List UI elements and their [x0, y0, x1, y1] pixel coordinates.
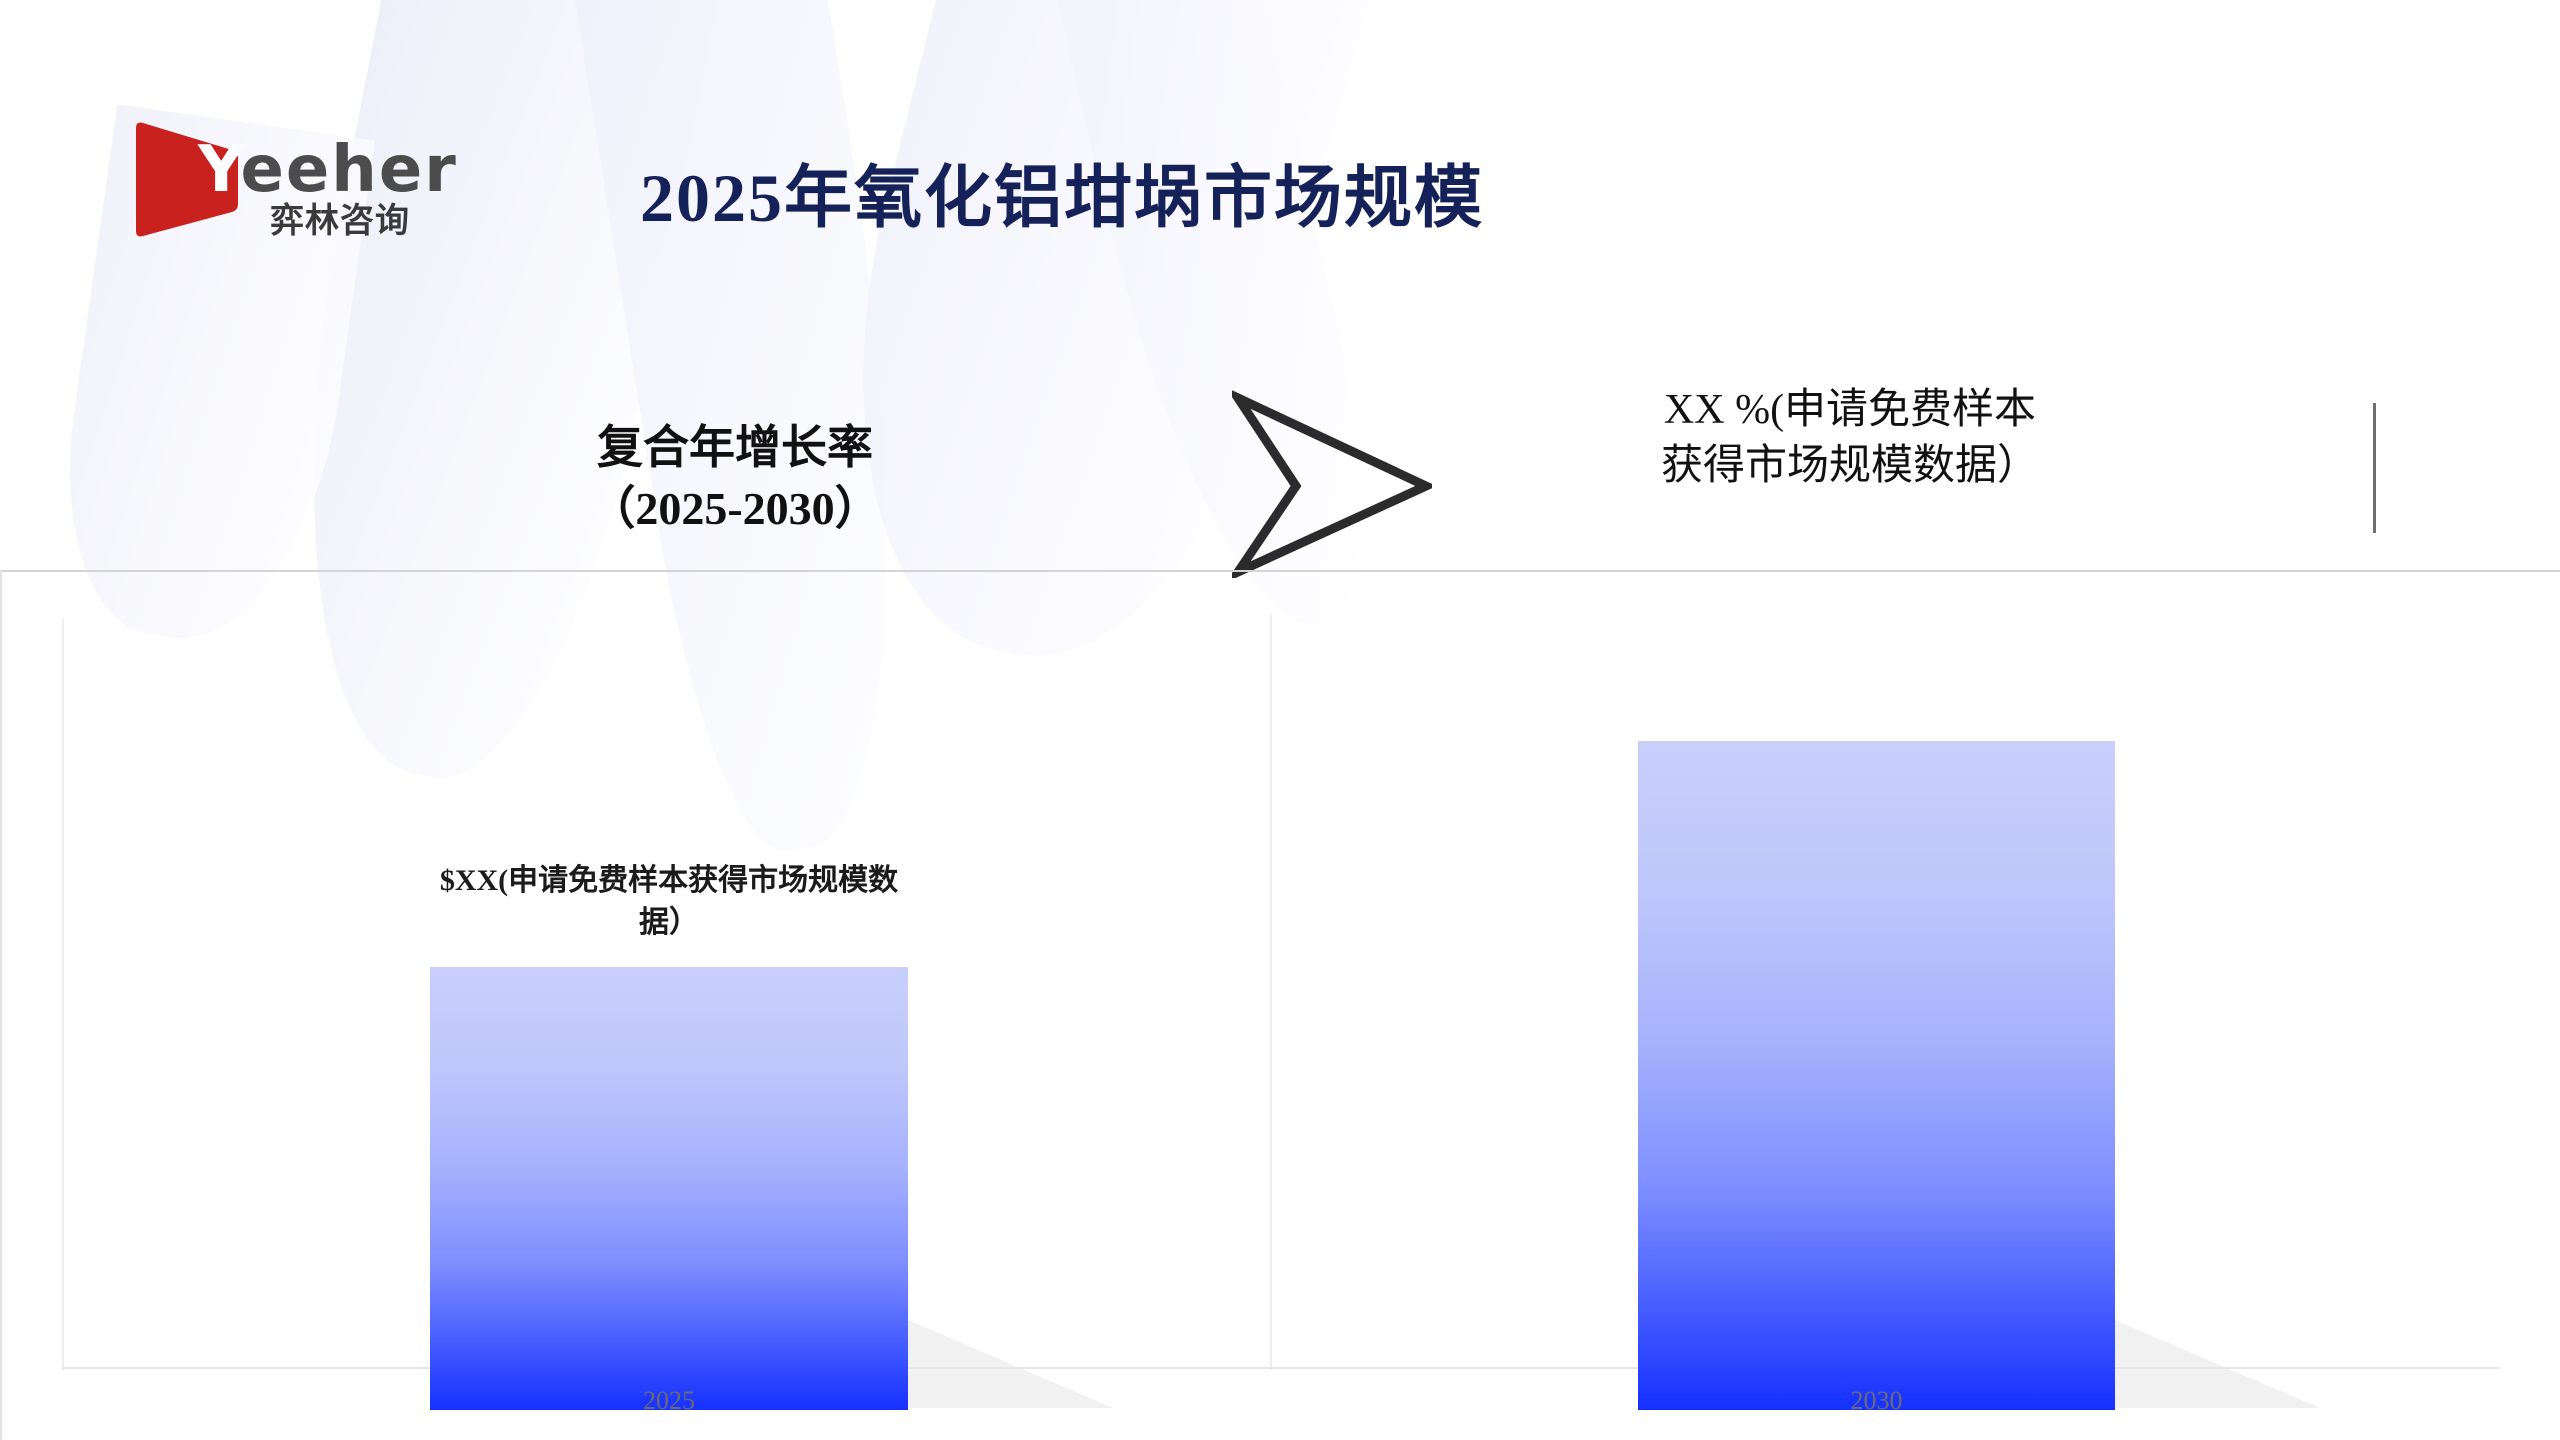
logo-wordmark: Yeeher — [198, 138, 458, 202]
logo-letter-y: Y — [198, 133, 240, 207]
chart-panel-divider — [1270, 615, 1272, 1370]
bar-value-label-2025: $XX(申请免费样本获得市场规模数据） — [430, 860, 908, 945]
vertical-divider — [2373, 403, 2376, 533]
cagr-value-callout: XX %(申请免费样本 获得市场规模数据） — [1590, 382, 2110, 495]
bar-2025[interactable] — [430, 967, 908, 1410]
bar-shadow-2030 — [2115, 1317, 2320, 1408]
cagr-label: 复合年增长率 （2025-2030） — [540, 418, 930, 539]
logo-word-rest: eeher — [240, 133, 457, 207]
x-axis-tick-2025: 2025 — [430, 1386, 908, 1416]
bar-shadow-2025 — [908, 1317, 1113, 1408]
bar-2030[interactable] — [1638, 741, 2115, 1410]
logo-subtitle: 弈林咨询 — [270, 204, 410, 238]
bar-chart: $XX(申请免费样本获得市场规模数据） 2025 2030 — [0, 570, 2560, 1440]
x-axis-tick-2030: 2030 — [1638, 1386, 2115, 1416]
page-title: 2025年氧化铝坩埚市场规模 — [640, 142, 1484, 241]
chart-panel-left-border — [62, 618, 64, 1370]
slide-canvas: Yeeher 弈林咨询 2025年氧化铝坩埚市场规模 复合年增长率 （2025-… — [0, 0, 2560, 1440]
brand-logo: Yeeher 弈林咨询 — [128, 118, 468, 238]
arrow-right-outline-icon — [1232, 390, 1432, 578]
cagr-label-line1: 复合年增长率 — [540, 418, 930, 479]
cagr-label-line2: （2025-2030） — [540, 479, 930, 540]
cagr-value-line1: XX %(申请免费样本 — [1590, 382, 2110, 438]
cagr-value-line2: 获得市场规模数据） — [1590, 438, 2110, 494]
